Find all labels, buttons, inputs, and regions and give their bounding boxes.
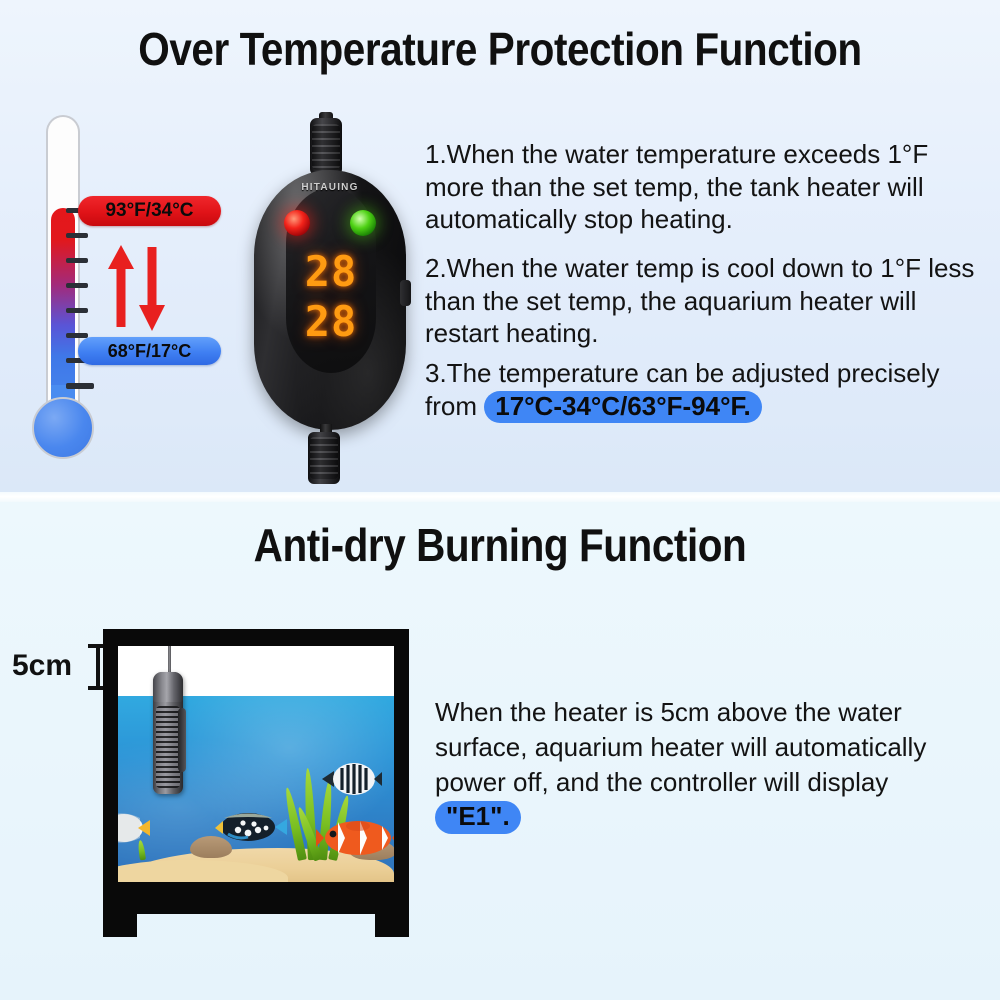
temperature-range-highlight: 17°C-34°C/63°F-94°F.: [484, 391, 761, 424]
aquarium-tank-illustration: [103, 629, 409, 949]
thermometer-graphic: [18, 115, 110, 475]
temperature-max-pill: 93°F/34°C: [78, 196, 221, 226]
anti-dry-description: When the heater is 5cm above the water s…: [435, 695, 980, 834]
thermometer-tick: [66, 333, 88, 338]
cord-strain-relief-top: [310, 118, 342, 176]
thermometer-tick: [66, 258, 88, 263]
measurement-label: 5cm: [12, 649, 72, 683]
clownfish: [314, 814, 394, 862]
anti-dry-description-lead: When the heater is 5cm above the water s…: [435, 697, 926, 797]
arrow-up-icon: [108, 245, 134, 327]
tank-leg-left: [103, 897, 137, 937]
infographic-page: Over Temperature Protection Function 93°…: [0, 0, 1000, 1000]
tank-base-bar: [103, 897, 409, 911]
striped-angelfish: [318, 758, 382, 800]
yellow-tang: [118, 808, 150, 848]
feature-point-2: 2.When the water temp is cool down to 1°…: [425, 252, 985, 350]
spotted-trigger-fish: [214, 806, 288, 846]
thermometer-bulb: [32, 397, 94, 459]
heater-cord: [168, 646, 171, 672]
display-set-temperature: 28: [298, 298, 364, 344]
tank-interior: [118, 646, 394, 882]
tank-leg-right: [375, 897, 409, 937]
thermometer-tick: [66, 308, 88, 313]
section-title-over-temperature: Over Temperature Protection Function: [60, 22, 940, 76]
heater-clip: [178, 708, 186, 772]
feature-point-1: 1.When the water temperature exceeds 1°F…: [425, 138, 985, 236]
thermometer-tick: [66, 233, 88, 238]
section-divider: [0, 492, 1000, 502]
temperature-min-pill: 68°F/17°C: [78, 337, 221, 365]
controller-body: HITAUING 28 28: [254, 170, 406, 430]
measurement-marker: 5cm: [12, 643, 112, 691]
side-button[interactable]: [400, 280, 411, 306]
display-current-temperature: 28: [298, 248, 364, 294]
thermometer-tick: [66, 383, 94, 389]
feature-point-3: 3.The temperature can be adjusted precis…: [425, 357, 985, 423]
arrow-down-icon: [139, 247, 165, 331]
error-code-highlight: "E1".: [435, 801, 521, 834]
temperature-range-arrows: [105, 243, 175, 333]
thermometer-tick: [66, 283, 88, 288]
heater-coil: [156, 706, 180, 788]
heater-cap: [153, 672, 183, 702]
brand-logo: HITAUING: [254, 182, 406, 193]
section-title-anti-dry-burning: Anti-dry Burning Function: [60, 518, 940, 572]
heater-controller-device: HITAUING 28 28: [240, 112, 420, 482]
cord-strain-relief-bottom: [308, 432, 340, 484]
red-indicator-led: [284, 210, 310, 236]
tank-stand: [103, 897, 409, 937]
green-indicator-led: [350, 210, 376, 236]
